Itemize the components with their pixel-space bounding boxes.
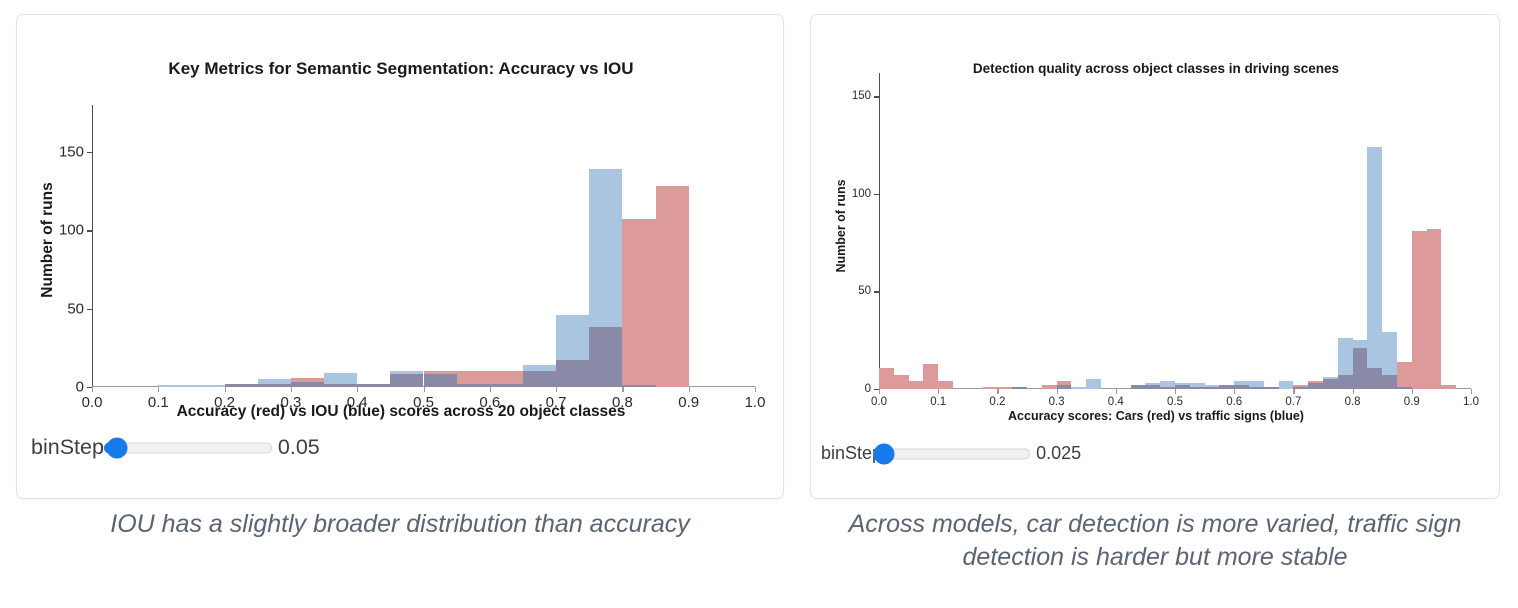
histogram-bar-overlap (258, 384, 291, 387)
histogram-bar-overlap (1397, 387, 1412, 389)
histogram-bar-blue (1071, 387, 1086, 389)
panel-caption-right: Across models, car detection is more var… (810, 508, 1500, 575)
histogram-bar-overlap (1175, 385, 1190, 389)
x-tick (225, 387, 226, 392)
histogram-bar-overlap (523, 371, 556, 387)
chart-card-right: Detection quality across object classes … (810, 14, 1500, 499)
x-tick (357, 387, 358, 392)
x-tick (1116, 389, 1117, 394)
histogram-bar-overlap (1264, 387, 1279, 389)
histogram-bar-overlap (1234, 385, 1249, 389)
x-tick-label: 1.0 (1463, 396, 1479, 408)
histogram-bar-overlap (556, 360, 589, 387)
histogram-bar-red (622, 219, 655, 387)
histogram-bar-overlap (589, 327, 622, 387)
plot-axes: 0501001500.00.10.20.30.40.50.60.70.80.91… (879, 73, 1471, 389)
histogram-bar-red (1441, 385, 1456, 389)
histogram-bar-overlap (1323, 379, 1338, 389)
x-tick (1412, 389, 1413, 394)
histogram-bar-overlap (1249, 387, 1264, 389)
x-tick-label: 0.6 (1226, 396, 1242, 408)
histogram-bar-overlap (1338, 375, 1353, 389)
panel-right: Detection quality across object classes … (790, 0, 1518, 608)
x-tick (1057, 389, 1058, 394)
x-tick-label: 0.4 (1108, 396, 1124, 408)
chart-card-left: Key Metrics for Semantic Segmentation: A… (16, 14, 784, 499)
binstep-slider-row-left[interactable]: binStep0.05 (31, 435, 320, 460)
histogram-bar-blue (191, 385, 224, 387)
histogram-bar-overlap (1219, 385, 1234, 389)
histogram-bar-overlap (1057, 385, 1072, 389)
y-tick (87, 230, 92, 231)
y-tick-label: 0 (76, 379, 84, 396)
x-tick (158, 387, 159, 392)
x-tick (1234, 389, 1235, 394)
x-axis-label: Accuracy scores: Cars (red) vs traffic s… (811, 409, 1501, 423)
x-tick (1353, 389, 1354, 394)
y-tick (874, 291, 879, 292)
histogram-bar-red (909, 381, 924, 389)
binstep-value: 0.05 (278, 435, 320, 460)
histogram-bar-overlap (424, 374, 457, 387)
histogram-bar-overlap (390, 374, 423, 387)
histogram-bar-blue (158, 385, 191, 387)
binstep-slider-row-right[interactable]: binStep0.025 (821, 443, 1081, 464)
histogram-bar-red (938, 381, 953, 389)
x-tick (1471, 389, 1472, 394)
x-tick-label: 0.2 (989, 396, 1005, 408)
chart-title: Key Metrics for Semantic Segmentation: A… (17, 59, 785, 79)
y-axis-label: Number of runs (39, 99, 57, 381)
y-tick-label: 0 (865, 383, 871, 395)
y-tick (87, 152, 92, 153)
histogram-bar-overlap (357, 384, 390, 387)
histogram-bar-overlap (1012, 387, 1027, 389)
x-tick-label: 0.3 (1049, 396, 1065, 408)
x-tick-label: 0.8 (1345, 396, 1361, 408)
x-tick (1175, 389, 1176, 394)
x-tick (490, 387, 491, 392)
histogram-bar-overlap (1190, 387, 1205, 389)
x-tick (556, 387, 557, 392)
histogram-bar-overlap (324, 384, 357, 387)
x-tick-label: 0.1 (930, 396, 946, 408)
histogram-bar-overlap (622, 385, 655, 387)
y-tick-label: 100 (852, 188, 871, 200)
plot-axes: 0501001500.00.10.20.30.40.50.60.70.80.91… (92, 105, 755, 387)
x-tick (755, 387, 756, 392)
histogram-bar-red (894, 375, 909, 389)
binstep-slider[interactable] (882, 446, 1030, 462)
histogram-bar-blue (1086, 379, 1101, 389)
x-tick-label: 0.7 (1285, 396, 1301, 408)
histogram-bar-blue (1279, 381, 1294, 389)
x-tick-label: 0.5 (1167, 396, 1183, 408)
x-tick (1293, 389, 1294, 394)
histogram-bar-red (997, 387, 1012, 389)
histogram-bar-overlap (291, 382, 324, 387)
y-tick (87, 309, 92, 310)
y-tick (874, 194, 879, 195)
x-tick (879, 389, 880, 394)
histogram-bar-overlap (1145, 385, 1160, 389)
y-tick-label: 100 (59, 222, 84, 239)
histogram-bar-red (879, 368, 894, 389)
binstep-label: binStep (31, 435, 104, 460)
histogram-bar-blue (1367, 147, 1382, 389)
slider-track[interactable] (882, 448, 1030, 459)
histogram-bar-overlap (1367, 368, 1382, 389)
y-tick-label: 150 (852, 90, 871, 102)
histogram-bar-red (656, 186, 689, 387)
histogram-bar-red (983, 387, 998, 389)
y-tick-label: 50 (858, 285, 871, 297)
slider-thumb[interactable] (106, 437, 127, 458)
x-tick-label: 0.9 (1404, 396, 1420, 408)
histogram-bar-overlap (457, 384, 490, 387)
y-tick-label: 50 (67, 300, 84, 317)
histogram-bar-overlap (490, 384, 523, 387)
x-tick (689, 387, 690, 392)
x-tick (997, 389, 998, 394)
histogram-bar-red (1042, 385, 1057, 389)
histogram-bar-overlap (1353, 348, 1368, 389)
x-axis-label: Accuracy (red) vs IOU (blue) scores acro… (17, 403, 785, 421)
slider-thumb[interactable] (873, 443, 894, 464)
x-tick (92, 387, 93, 392)
histogram-bar-red (1412, 231, 1427, 389)
histogram-bar-overlap (1382, 375, 1397, 389)
panel-caption-left: IOU has a slightly broader distribution … (16, 508, 784, 541)
panel-left: Key Metrics for Semantic Segmentation: A… (0, 0, 790, 608)
binstep-value: 0.025 (1036, 443, 1081, 464)
histogram-bar-overlap (1131, 385, 1146, 389)
x-tick (424, 387, 425, 392)
y-axis-line (879, 73, 880, 389)
y-axis-label: Number of runs (834, 68, 848, 384)
histogram-bar-overlap (225, 384, 258, 387)
histogram-bar-red (1427, 229, 1442, 389)
histogram-bar-red (1397, 362, 1412, 389)
x-tick (291, 387, 292, 392)
dashboard-root: Key Metrics for Semantic Segmentation: A… (0, 0, 1518, 608)
x-tick-label: 0.0 (871, 396, 887, 408)
x-tick (938, 389, 939, 394)
y-tick (874, 96, 879, 97)
histogram-bar-overlap (1293, 387, 1308, 389)
binstep-slider[interactable] (104, 440, 272, 456)
x-tick (622, 387, 623, 392)
histogram-bar-overlap (1205, 387, 1220, 389)
y-axis-line (92, 105, 93, 387)
slider-track[interactable] (104, 442, 272, 453)
histogram-bar-overlap (1160, 387, 1175, 389)
y-tick-label: 150 (59, 144, 84, 161)
histogram-bar-overlap (1308, 383, 1323, 389)
histogram-bar-red (923, 364, 938, 389)
